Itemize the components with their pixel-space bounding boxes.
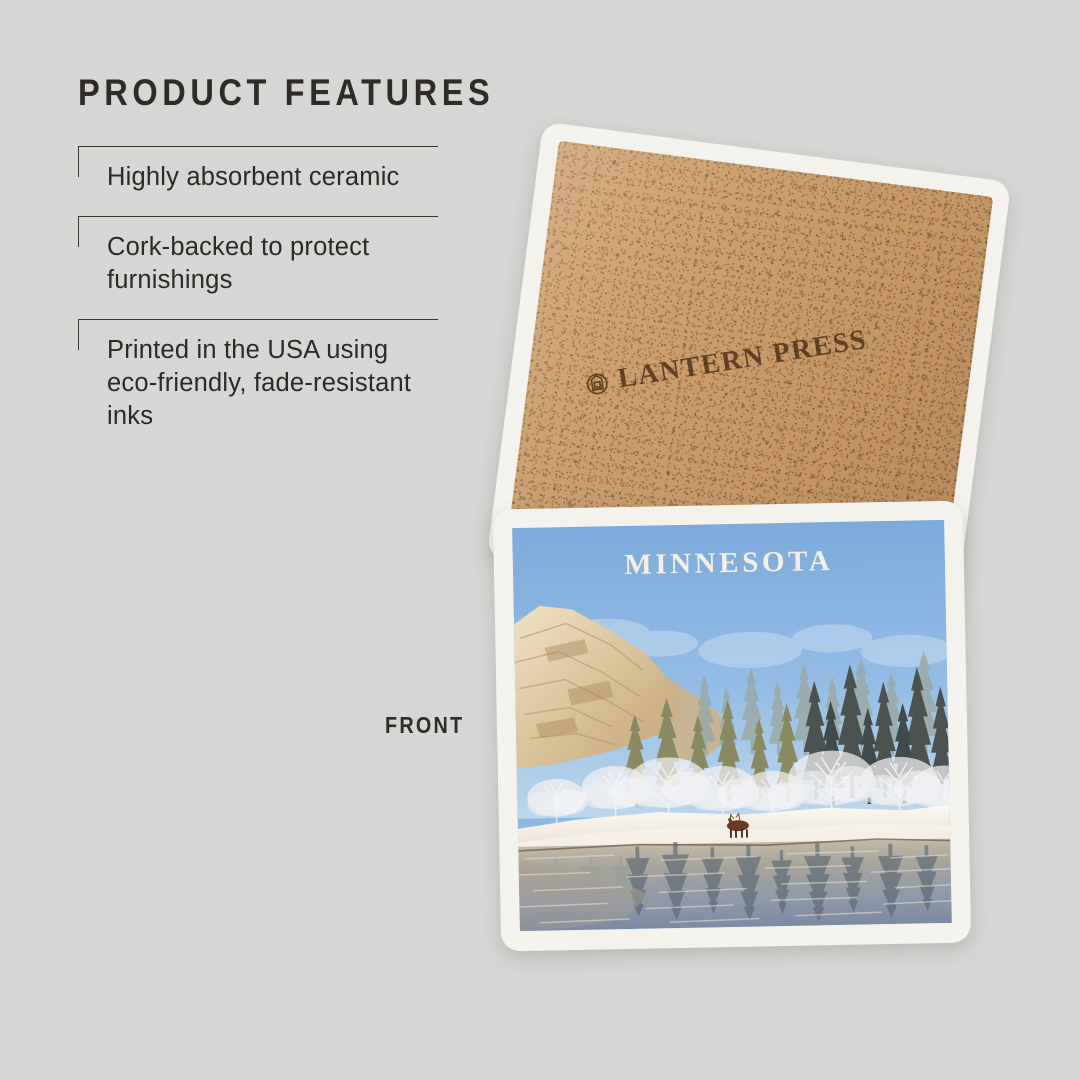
feature-item: Highly absorbent ceramic <box>78 146 438 194</box>
brand-stamp: LANTERN PRESS <box>582 324 869 401</box>
feature-text: Cork-backed to protect furnishings <box>107 216 438 297</box>
feature-text: Printed in the USA using eco-friendly, f… <box>107 319 438 433</box>
feature-item: Printed in the USA using eco-friendly, f… <box>78 319 438 433</box>
coaster-front: MINNESOTA <box>493 501 971 952</box>
artwork-surface: MINNESOTA <box>512 520 952 931</box>
brand-wordmark: LANTERN PRESS <box>616 324 870 395</box>
feature-item: Cork-backed to protect furnishings <box>78 216 438 297</box>
label-front: FRONT <box>385 712 464 739</box>
product-features-panel: PRODUCT FEATURES Highly absorbent cerami… <box>78 72 438 455</box>
lantern-icon <box>582 368 611 399</box>
feature-text: Highly absorbent ceramic <box>107 146 438 194</box>
page-title: PRODUCT FEATURES <box>78 72 395 114</box>
